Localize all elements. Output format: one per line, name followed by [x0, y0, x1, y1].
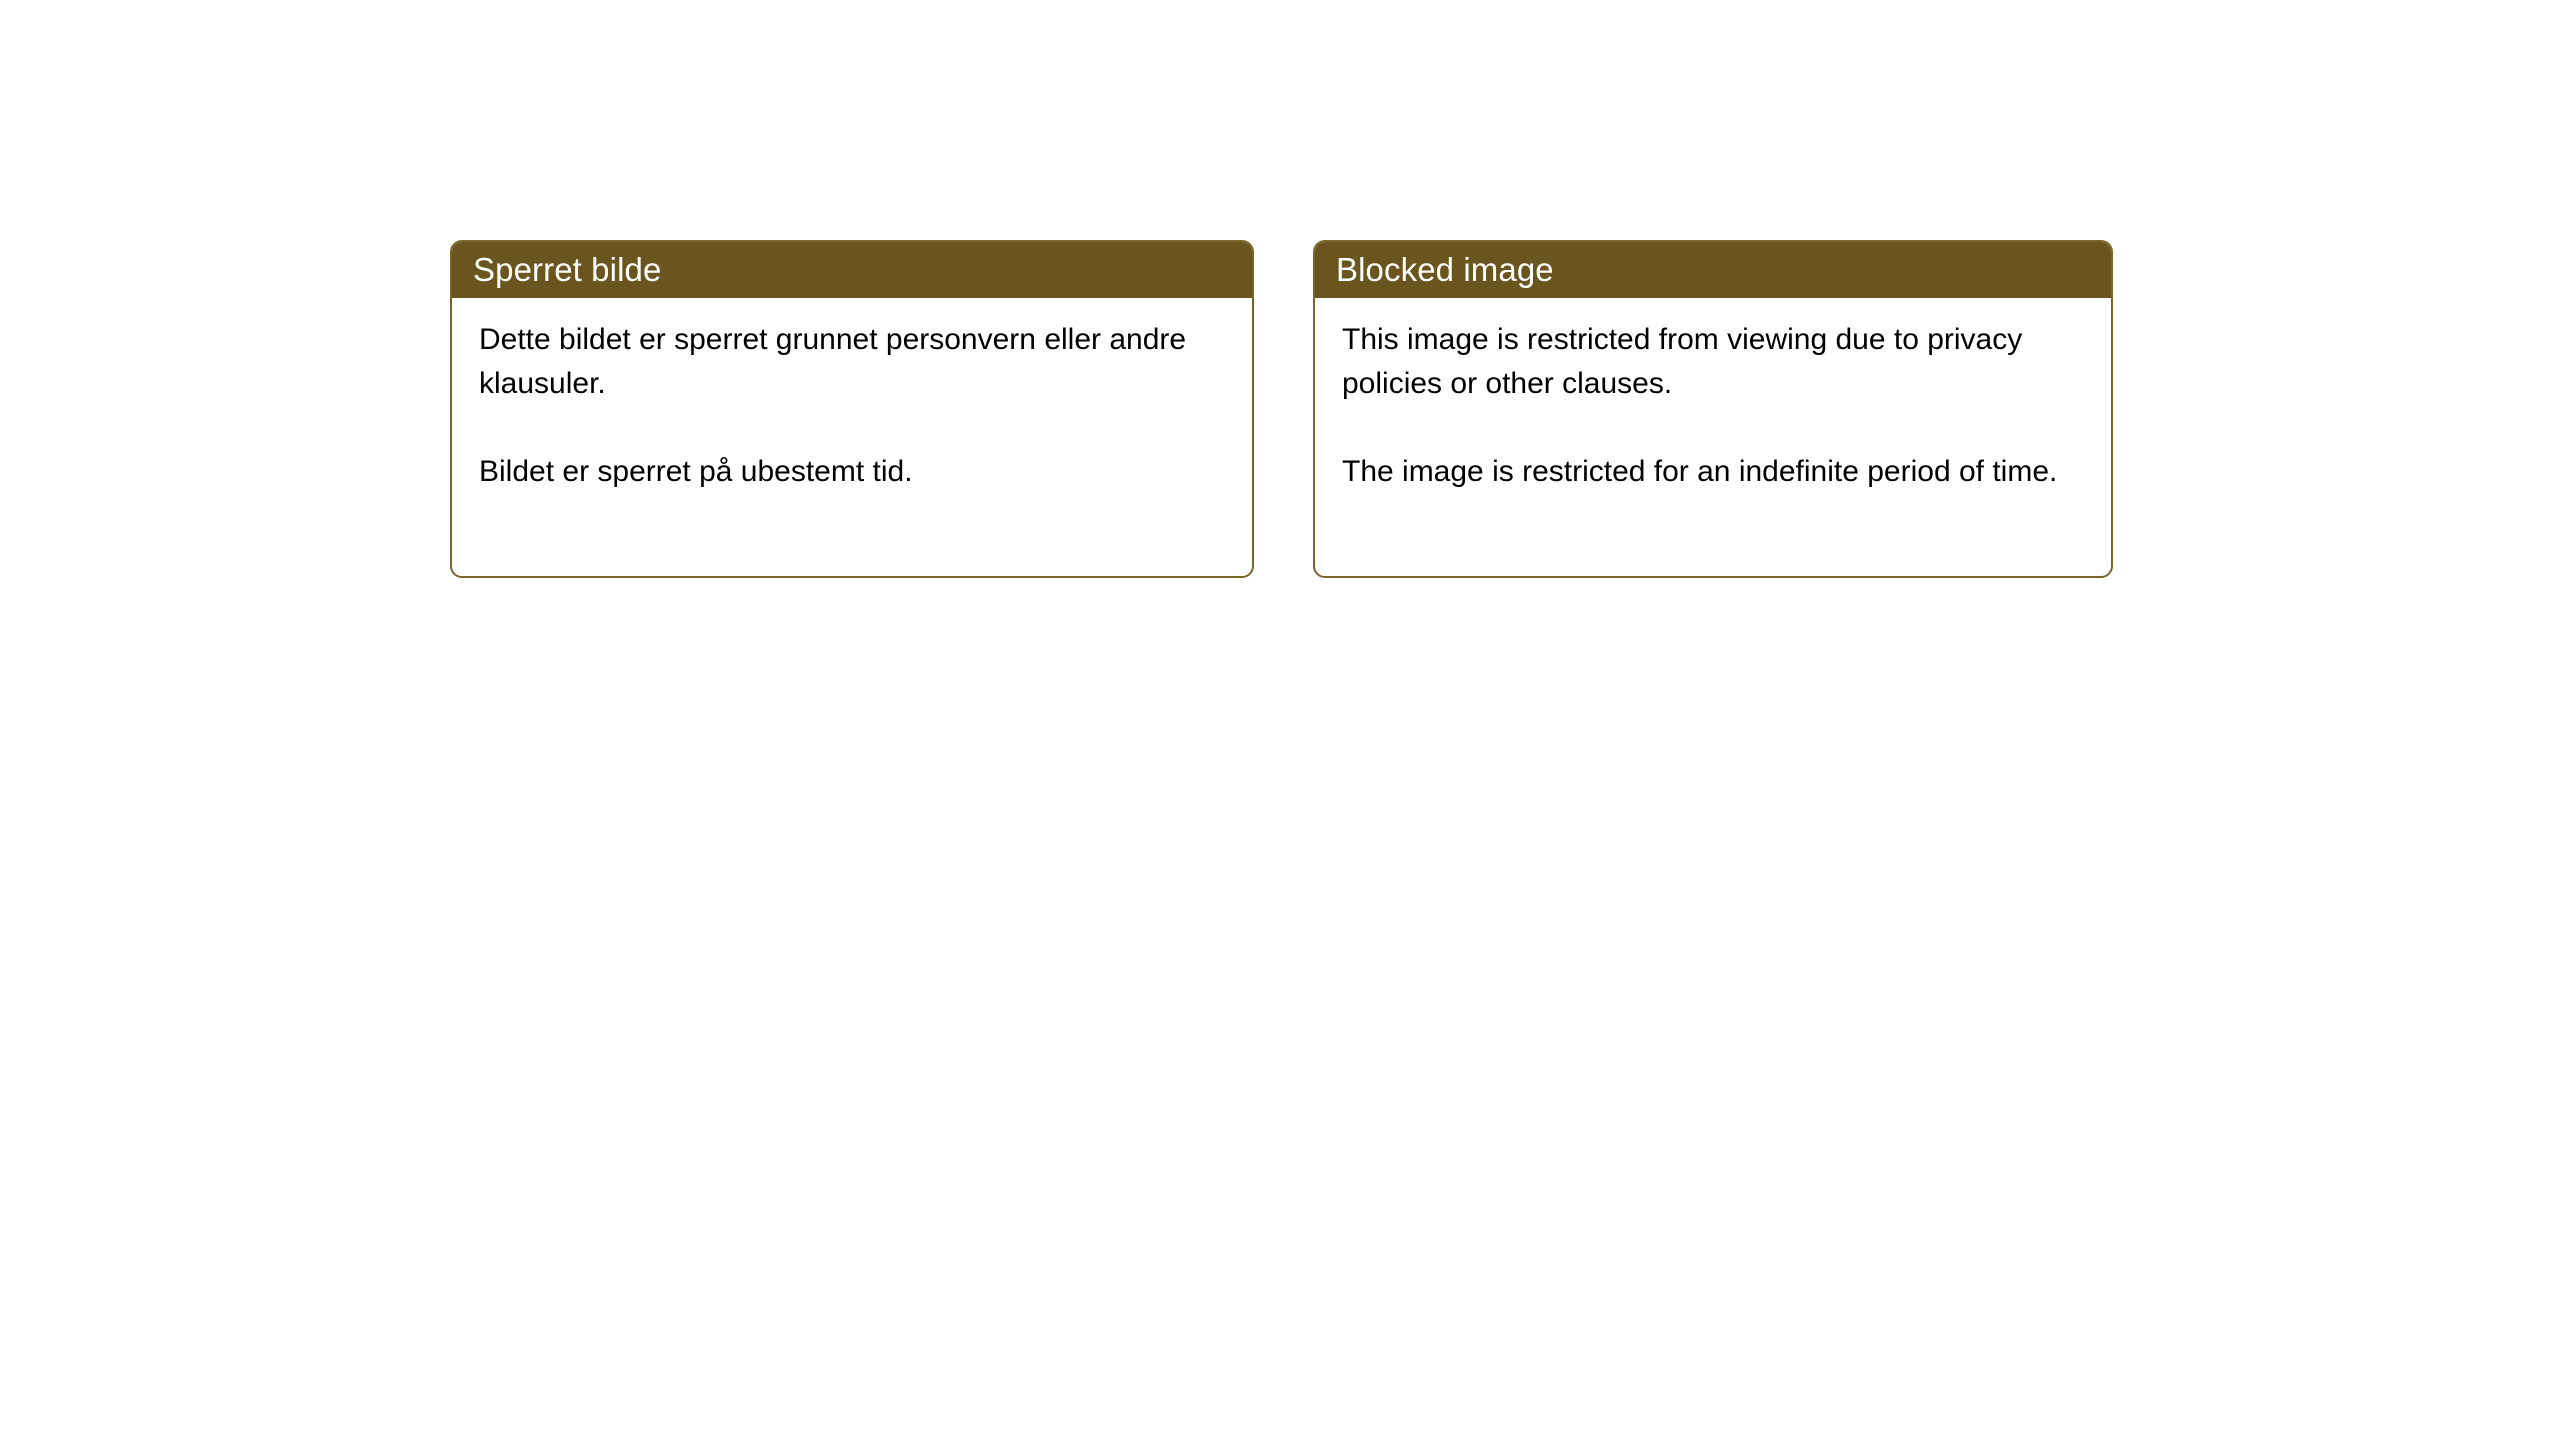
card-header-en: Blocked image — [1313, 240, 2113, 298]
card-title-no: Sperret bilde — [473, 253, 661, 286]
card-body-en: This image is restricted from viewing du… — [1315, 298, 2111, 576]
card-body-no: Dette bildet er sperret grunnet personve… — [452, 298, 1252, 576]
card-title-en: Blocked image — [1336, 253, 1554, 286]
blocked-image-notice-card-en: Blocked image This image is restricted f… — [1313, 240, 2113, 578]
card-paragraph-duration-no: Bildet er sperret på ubestemt tid. — [479, 450, 1234, 494]
card-header-no: Sperret bilde — [450, 240, 1254, 298]
card-paragraph-reason-en: This image is restricted from viewing du… — [1342, 318, 2093, 406]
card-paragraph-duration-en: The image is restricted for an indefinit… — [1342, 450, 2093, 494]
card-paragraph-reason-no: Dette bildet er sperret grunnet personve… — [479, 318, 1234, 406]
blocked-image-notice-card-no: Sperret bilde Dette bildet er sperret gr… — [450, 240, 1254, 578]
page-canvas: Sperret bilde Dette bildet er sperret gr… — [0, 0, 2560, 1440]
